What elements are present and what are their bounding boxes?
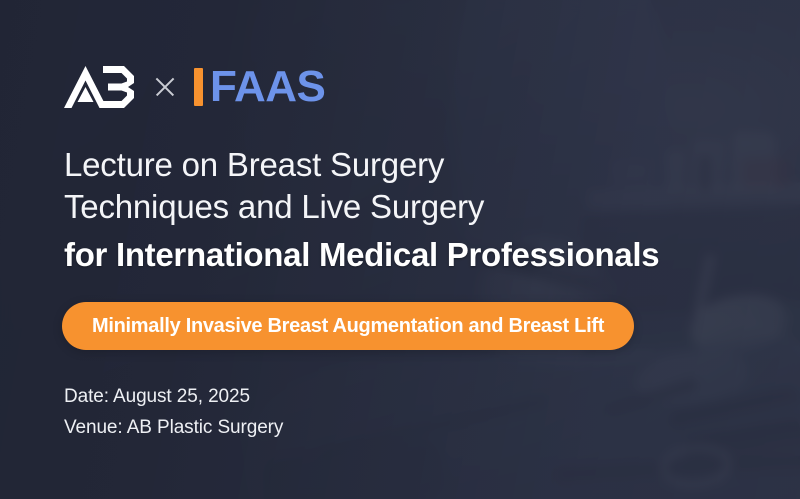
logo-lockup: FAAS [64,64,325,110]
headline-line-2: Techniques and Live Surgery [64,186,764,228]
headline-line-1: Lecture on Breast Surgery [64,144,764,186]
headline-line-3: for International Medical Professionals [64,234,764,276]
event-banner: FAAS Lecture on Breast Surgery Technique… [0,0,800,499]
cross-separator-icon [152,74,178,100]
ifaas-wordmark: FAAS [194,65,325,109]
headline-block: Lecture on Breast Surgery Techniques and… [64,144,764,276]
event-venue: Venue: AB Plastic Surgery [64,413,283,444]
ifaas-letters: FAAS [210,65,325,109]
ifaas-initial-bar [194,68,203,106]
banner-content: FAAS Lecture on Breast Surgery Technique… [0,0,800,499]
ab-logo-icon [64,64,136,110]
event-date: Date: August 25, 2025 [64,382,283,413]
topic-badge[interactable]: Minimally Invasive Breast Augmentation a… [62,302,634,350]
event-details: Date: August 25, 2025 Venue: AB Plastic … [64,382,283,444]
